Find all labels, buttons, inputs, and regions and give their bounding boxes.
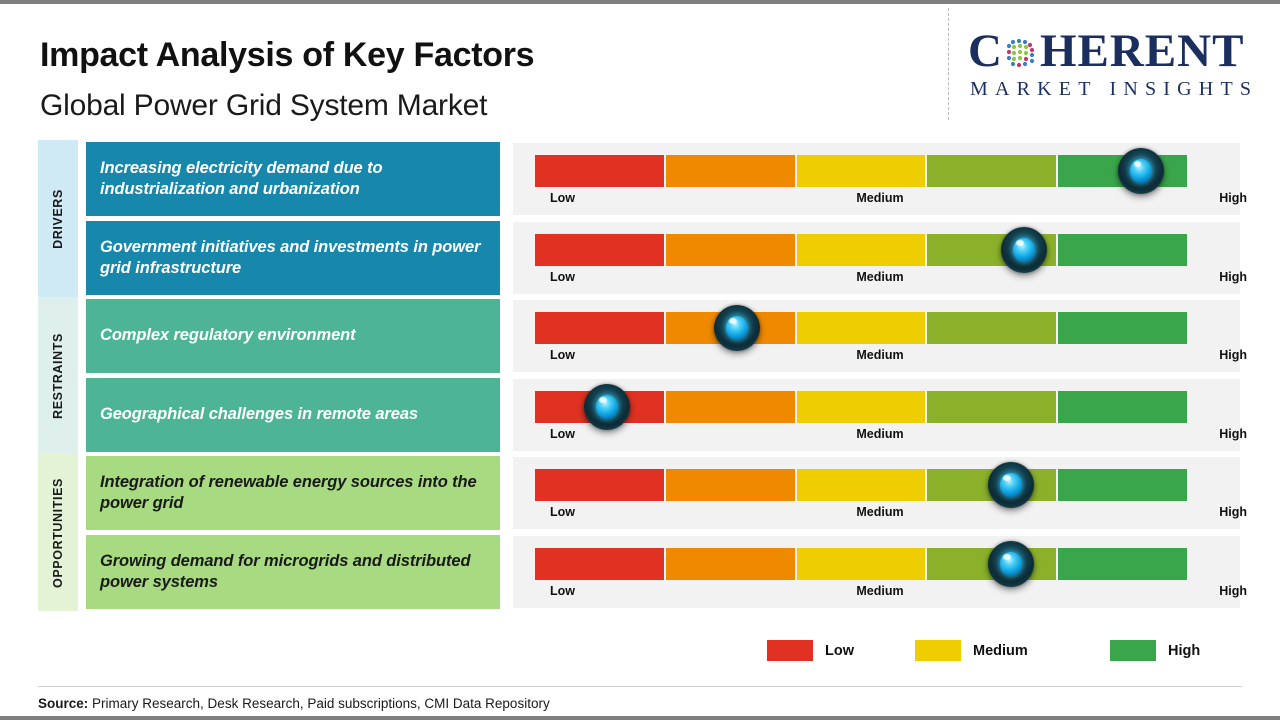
factor-label: Geographical challenges in remote areas bbox=[100, 404, 418, 425]
impact-gauge: LowMediumHigh bbox=[513, 143, 1240, 215]
gauge-track[interactable] bbox=[535, 548, 1187, 580]
legend-swatch bbox=[1110, 640, 1156, 661]
factor-card[interactable]: Growing demand for microgrids and distri… bbox=[86, 535, 500, 609]
logo-tagline: MARKET INSIGHTS bbox=[968, 78, 1264, 101]
category-tab-label: RESTRAINTS bbox=[51, 333, 65, 419]
gauge-segment-4 bbox=[927, 155, 1058, 187]
gauge-segment-1 bbox=[535, 155, 666, 187]
scale-label-low: Low bbox=[550, 505, 575, 519]
factor-label: Integration of renewable energy sources … bbox=[100, 472, 486, 515]
logo-letters-herent: HERENT bbox=[1040, 28, 1245, 75]
source-text: Primary Research, Desk Research, Paid su… bbox=[92, 696, 550, 711]
scale-label-medium: Medium bbox=[856, 584, 903, 598]
gauge-segment-2 bbox=[666, 469, 797, 501]
scale-label-low: Low bbox=[550, 270, 575, 284]
scale-label-medium: Medium bbox=[856, 270, 903, 284]
gauge-track[interactable] bbox=[535, 155, 1187, 187]
gauge-scale: LowMediumHigh bbox=[535, 348, 1225, 368]
impact-marker[interactable] bbox=[1001, 227, 1047, 273]
gauge-segment-2 bbox=[666, 548, 797, 580]
scale-label-high: High bbox=[1219, 270, 1247, 284]
impact-gauge: LowMediumHigh bbox=[513, 300, 1240, 372]
source-divider bbox=[38, 686, 1242, 687]
legend-label: Medium bbox=[973, 643, 1028, 659]
logo-letter-c: C bbox=[968, 28, 1003, 75]
gauge-segment-5 bbox=[1058, 469, 1187, 501]
factor-card[interactable]: Geographical challenges in remote areas bbox=[86, 378, 500, 452]
gauge-segment-2 bbox=[666, 234, 797, 266]
impact-matrix: DRIVERSRESTRAINTSOPPORTUNITIES Increasin… bbox=[0, 140, 1280, 618]
category-tab-opportunities[interactable]: OPPORTUNITIES bbox=[38, 454, 78, 611]
gauge-segment-3 bbox=[797, 155, 928, 187]
category-tab-drivers[interactable]: DRIVERS bbox=[38, 140, 78, 297]
scale-label-medium: Medium bbox=[856, 191, 903, 205]
source-note: Source: Primary Research, Desk Research,… bbox=[38, 696, 550, 711]
scale-label-medium: Medium bbox=[856, 505, 903, 519]
impact-marker[interactable] bbox=[1118, 148, 1164, 194]
category-tab-label: OPPORTUNITIES bbox=[51, 478, 65, 588]
scale-label-high: High bbox=[1219, 191, 1247, 205]
gauge-segment-1 bbox=[535, 234, 666, 266]
scale-label-high: High bbox=[1219, 348, 1247, 362]
factor-label: Growing demand for microgrids and distri… bbox=[100, 551, 486, 594]
gauge-scale: LowMediumHigh bbox=[535, 191, 1225, 211]
globe-dots-icon bbox=[1003, 35, 1039, 71]
gauge-segment-3 bbox=[797, 469, 928, 501]
gauge-scale: LowMediumHigh bbox=[535, 270, 1225, 290]
gauge-scale: LowMediumHigh bbox=[535, 427, 1225, 447]
factor-card[interactable]: Government initiatives and investments i… bbox=[86, 221, 500, 295]
scale-label-low: Low bbox=[550, 584, 575, 598]
gauge-segment-4 bbox=[927, 391, 1058, 423]
impact-gauge: LowMediumHigh bbox=[513, 222, 1240, 294]
gauge-segment-3 bbox=[797, 312, 928, 344]
scale-label-high: High bbox=[1219, 584, 1247, 598]
legend-item-medium[interactable]: Medium bbox=[915, 640, 1028, 661]
factor-label: Increasing electricity demand due to ind… bbox=[100, 158, 486, 201]
gauge-scale: LowMediumHigh bbox=[535, 584, 1225, 604]
legend-item-low[interactable]: Low bbox=[767, 640, 854, 661]
gauge-segment-5 bbox=[1058, 234, 1187, 266]
impact-gauge: LowMediumHigh bbox=[513, 379, 1240, 451]
scale-label-medium: Medium bbox=[856, 348, 903, 362]
gauge-track[interactable] bbox=[535, 469, 1187, 501]
category-tab-label: DRIVERS bbox=[51, 189, 65, 249]
gauge-segment-5 bbox=[1058, 548, 1187, 580]
gauge-segment-1 bbox=[535, 312, 666, 344]
impact-gauge: LowMediumHigh bbox=[513, 536, 1240, 608]
gauge-track[interactable] bbox=[535, 234, 1187, 266]
gauge-segment-2 bbox=[666, 391, 797, 423]
gauge-segment-2 bbox=[666, 155, 797, 187]
impact-marker[interactable] bbox=[988, 462, 1034, 508]
scale-label-low: Low bbox=[550, 191, 575, 205]
slide-root: Impact Analysis of Key Factors Global Po… bbox=[0, 0, 1280, 720]
legend-label: Low bbox=[825, 643, 854, 659]
impact-marker[interactable] bbox=[584, 384, 630, 430]
scale-label-low: Low bbox=[550, 348, 575, 362]
gauge-segment-4 bbox=[927, 312, 1058, 344]
gauge-track[interactable] bbox=[535, 312, 1187, 344]
page-title: Impact Analysis of Key Factors bbox=[40, 36, 534, 75]
gauge-segment-3 bbox=[797, 548, 928, 580]
scale-label-high: High bbox=[1219, 427, 1247, 441]
scale-label-low: Low bbox=[550, 427, 575, 441]
legend-label: High bbox=[1168, 643, 1200, 659]
gauge-segment-3 bbox=[797, 391, 928, 423]
logo-wordmark: C bbox=[968, 26, 1264, 76]
source-label: Source: bbox=[38, 696, 88, 711]
factor-card[interactable]: Increasing electricity demand due to ind… bbox=[86, 142, 500, 216]
gauge-segment-5 bbox=[1058, 312, 1187, 344]
impact-marker[interactable] bbox=[714, 305, 760, 351]
gauge-segment-1 bbox=[535, 548, 666, 580]
legend-swatch bbox=[767, 640, 813, 661]
gauge-track[interactable] bbox=[535, 391, 1187, 423]
impact-gauge: LowMediumHigh bbox=[513, 457, 1240, 529]
coherent-market-insights-logo: C bbox=[968, 26, 1264, 108]
gauge-segment-3 bbox=[797, 234, 928, 266]
gauge-segment-5 bbox=[1058, 391, 1187, 423]
slide-header: Impact Analysis of Key Factors Global Po… bbox=[0, 4, 1280, 132]
factor-card[interactable]: Complex regulatory environment bbox=[86, 299, 500, 373]
header-divider bbox=[948, 8, 949, 120]
scale-label-high: High bbox=[1219, 505, 1247, 519]
factor-card[interactable]: Integration of renewable energy sources … bbox=[86, 456, 500, 530]
factor-label: Government initiatives and investments i… bbox=[100, 237, 486, 280]
category-tab-restraints[interactable]: RESTRAINTS bbox=[38, 297, 78, 454]
legend-item-high[interactable]: High bbox=[1110, 640, 1200, 661]
scale-label-medium: Medium bbox=[856, 427, 903, 441]
impact-marker[interactable] bbox=[988, 541, 1034, 587]
gauge-scale: LowMediumHigh bbox=[535, 505, 1225, 525]
page-subtitle: Global Power Grid System Market bbox=[40, 89, 487, 123]
impact-legend: LowMediumHigh bbox=[0, 640, 1280, 680]
legend-swatch bbox=[915, 640, 961, 661]
gauge-segment-1 bbox=[535, 469, 666, 501]
factor-label: Complex regulatory environment bbox=[100, 325, 356, 346]
